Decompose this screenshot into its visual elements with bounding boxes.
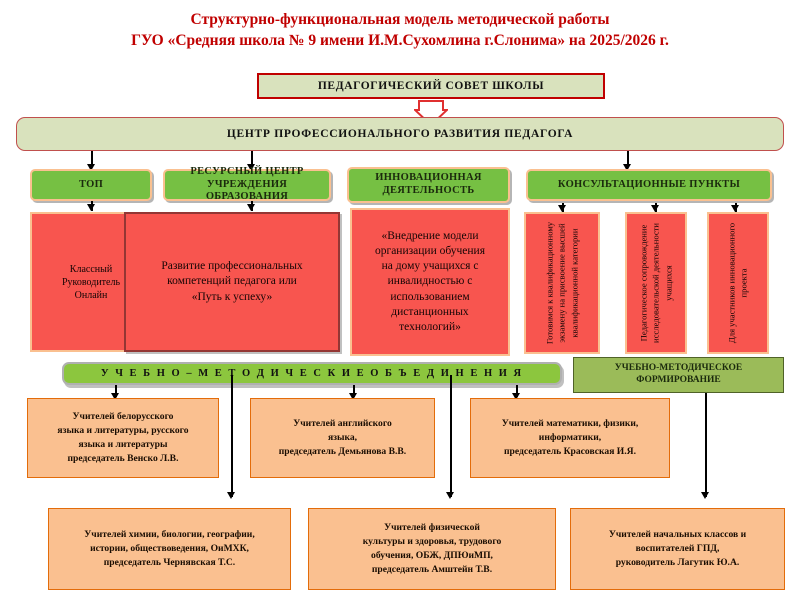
title-line-2: ГУО «Средняя школа № 9 имени И.М.Сухомли…	[0, 31, 800, 52]
node-association-english-label: Учителей английскогоязыка,председатель Д…	[251, 417, 434, 459]
node-consultation-point-3[interactable]: Для участников инновационного проекта	[707, 212, 769, 354]
node-association-belarusian-russian-label: Учителей белорусскогоязыка и литературы,…	[28, 410, 218, 466]
node-teacher-development-center[interactable]: ЦЕНТР ПРОФЕССИОНАЛЬНОГО РАЗВИТИЯ ПЕДАГОГ…	[16, 117, 784, 151]
arrow-umo-to-assoc5-icon	[446, 492, 454, 499]
node-association-english[interactable]: Учителей английскогоязыка,председатель Д…	[250, 398, 435, 478]
connector-umo-to-assoc4	[231, 375, 233, 497]
node-consultation-point-3-label: Для участников инновационного проекта	[726, 216, 751, 350]
node-umo-bar[interactable]: У Ч Е Б Н О – М Е Т О Д И Ч Е С К И Е О …	[62, 362, 562, 385]
node-association-primary-classes-gpd-label: Учителей начальных классов ивоспитателей…	[571, 528, 784, 570]
node-pedagogical-council-label: ПЕДАГОГИЧЕСКИЙ СОВЕТ ШКОЛЫ	[259, 80, 603, 92]
node-category-consultation-points[interactable]: КОНСУЛЬТАЦИОННЫЕ ПУНКТЫ	[526, 169, 772, 201]
page-title: Структурно-функциональная модель методич…	[0, 10, 800, 52]
node-pedagogical-council[interactable]: ПЕДАГОГИЧЕСКИЙ СОВЕТ ШКОЛЫ	[257, 73, 605, 99]
diagram-canvas: Структурно-функциональная модель методич…	[0, 0, 800, 600]
arrow-umo-to-assoc4-icon	[227, 492, 235, 499]
arrow-consult-to-cp3-icon	[731, 205, 739, 212]
node-content-innovation-project[interactable]: «Внедрение моделиорганизации обученияна …	[350, 208, 510, 356]
node-association-math-physics-informatics-label: Учителей математики, физики,информатики,…	[471, 417, 669, 459]
node-consultation-point-1-label: Готовимся к квалификационному экзамену н…	[543, 216, 580, 350]
node-category-innovation-label: ИННОВАЦИОННАЯДЕЯТЕЛЬНОСТЬ	[349, 172, 508, 198]
node-um-formation-label: УЧЕБНО-МЕТОДИЧЕСКОЕФОРМИРОВАНИЕ	[574, 363, 783, 387]
arrow-resource-to-content-icon	[247, 204, 255, 211]
node-association-physical-culture-labour-label: Учителей физическойкультуры и здоровья, …	[309, 521, 555, 577]
node-category-resource-center-label: РЕСУРСНЫЙ ЦЕНТРУЧРЕЖДЕНИЯ ОБРАЗОВАНИЯ	[165, 166, 329, 204]
arrow-consult-to-cp1-icon	[558, 205, 566, 212]
node-consultation-point-2-label: Педагогическое сопровождение исследовате…	[637, 216, 674, 350]
node-teacher-development-center-label: ЦЕНТР ПРОФЕССИОНАЛЬНОГО РАЗВИТИЯ ПЕДАГОГ…	[17, 128, 783, 140]
node-category-consultation-points-label: КОНСУЛЬТАЦИОННЫЕ ПУНКТЫ	[528, 179, 770, 192]
node-association-chemistry-biology-geography[interactable]: Учителей химии, биологии, географии,исто…	[48, 508, 291, 590]
connector-umf-to-assoc6	[705, 393, 707, 497]
node-association-physical-culture-labour[interactable]: Учителей физическойкультуры и здоровья, …	[308, 508, 556, 590]
node-category-innovation[interactable]: ИННОВАЦИОННАЯДЕЯТЕЛЬНОСТЬ	[347, 167, 510, 203]
node-content-professional-competences[interactable]: Развитие профессиональныхкомпетенций пед…	[124, 212, 340, 352]
arrow-top-to-content-icon	[87, 204, 95, 211]
arrow-consult-to-cp2-icon	[651, 205, 659, 212]
node-consultation-point-2[interactable]: Педагогическое сопровождение исследовате…	[625, 212, 687, 354]
node-association-math-physics-informatics[interactable]: Учителей математики, физики,информатики,…	[470, 398, 670, 478]
node-association-primary-classes-gpd[interactable]: Учителей начальных классов ивоспитателей…	[570, 508, 785, 590]
node-association-belarusian-russian[interactable]: Учителей белорусскогоязыка и литературы,…	[27, 398, 219, 478]
node-um-formation[interactable]: УЧЕБНО-МЕТОДИЧЕСКОЕФОРМИРОВАНИЕ	[573, 357, 784, 393]
node-consultation-point-1[interactable]: Готовимся к квалификационному экзамену н…	[524, 212, 600, 354]
connector-umo-to-assoc5	[450, 375, 452, 497]
title-line-1: Структурно-функциональная модель методич…	[191, 11, 610, 28]
node-association-chemistry-biology-geography-label: Учителей химии, биологии, географии,исто…	[49, 528, 290, 570]
node-content-innovation-project-label: «Внедрение моделиорганизации обученияна …	[352, 229, 508, 335]
node-category-resource-center[interactable]: РЕСУРСНЫЙ ЦЕНТРУЧРЕЖДЕНИЯ ОБРАЗОВАНИЯ	[163, 169, 331, 201]
node-category-top-label: ТОП	[32, 179, 150, 192]
node-content-professional-competences-label: Развитие профессиональныхкомпетенций пед…	[126, 259, 338, 305]
arrow-umf-to-assoc6-icon	[701, 492, 709, 499]
node-umo-bar-label: У Ч Е Б Н О – М Е Т О Д И Ч Е С К И Е О …	[64, 368, 560, 379]
node-category-top[interactable]: ТОП	[30, 169, 152, 201]
